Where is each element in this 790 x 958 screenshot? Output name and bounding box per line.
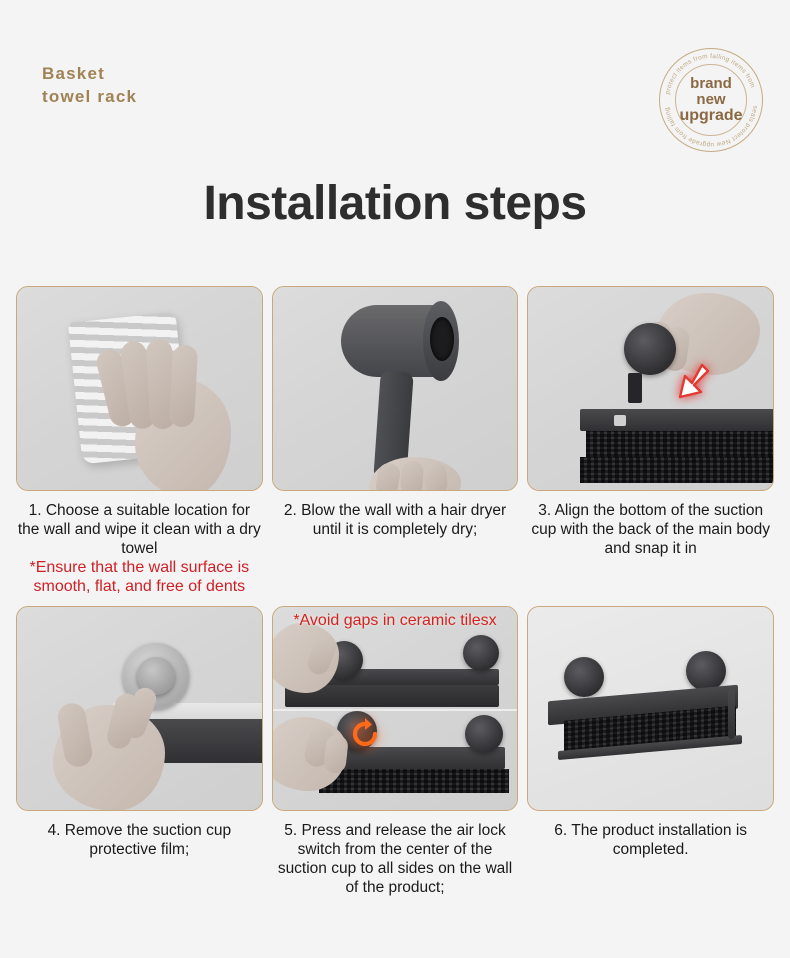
rack-lower-mesh (319, 769, 509, 793)
rack-mesh-upper (586, 431, 774, 457)
seal-center-text: brand new upgrade (659, 48, 763, 152)
brand-title: Basket towel rack (42, 62, 137, 108)
brand-title-line2: towel rack (42, 85, 137, 108)
rack-lock-marker (614, 415, 626, 426)
step-photo-4 (16, 606, 263, 811)
rack-mesh-lower (580, 457, 774, 483)
step-caption-3: 3. Align the bottom of the suction cup w… (527, 491, 774, 558)
rotate-arrow-icon (348, 717, 382, 751)
suction-cup-tab (628, 373, 642, 403)
suction-cup-lower-right (465, 715, 503, 753)
step-caption-1: 1. Choose a suitable location for the wa… (16, 491, 263, 558)
step-photo-1 (16, 286, 263, 491)
page-title: Installation steps (0, 176, 790, 231)
rack-top-rail (580, 409, 774, 431)
step-caption-5: 5. Press and release the air lock switch… (272, 811, 519, 897)
red-down-arrow-icon (668, 359, 712, 403)
step-cell-1: 1. Choose a suitable location for the wa… (16, 286, 263, 596)
hair-dryer-air-outlet (430, 317, 454, 361)
step-photo-3 (527, 286, 774, 491)
suction-cup-upper-right (463, 635, 499, 671)
step-cell-5: *Avoid gaps in ceramic tilesx 5. Press a… (272, 606, 519, 897)
step-cell-2: 2. Blow the wall with a hair dryer until… (272, 286, 519, 596)
finger-2c (424, 462, 448, 491)
step-photo-2 (272, 286, 519, 491)
seal-word-brand: brand (690, 76, 732, 92)
seal-word-upgrade: upgrade (679, 108, 742, 124)
step-cell-6: 6. The product installation is completed… (527, 606, 774, 897)
step-warning-1: *Ensure that the wall surface is smooth,… (16, 558, 263, 596)
rack-side-handle (728, 689, 735, 740)
step-caption-6: 6. The product installation is completed… (527, 811, 774, 859)
step-photo-6 (527, 606, 774, 811)
finger-1d (169, 344, 198, 427)
sub-photo-divider (273, 709, 518, 711)
step-caption-4: 4. Remove the suction cup protective fil… (16, 811, 263, 859)
brand-new-upgrade-seal-badge: protect items from falling items from se… (659, 48, 763, 152)
step-cell-3: 3. Align the bottom of the suction cup w… (527, 286, 774, 596)
installation-steps-grid: 1. Choose a suitable location for the wa… (16, 286, 774, 897)
step-overlay-warning-5: *Avoid gaps in ceramic tilesx (273, 611, 518, 630)
seal-word-new: new (696, 92, 725, 108)
step-caption-2: 2. Blow the wall with a hair dryer until… (272, 491, 519, 539)
brand-title-line1: Basket (42, 64, 105, 83)
step-photo-5: *Avoid gaps in ceramic tilesx (272, 606, 519, 811)
step-cell-4: 4. Remove the suction cup protective fil… (16, 606, 263, 897)
finger-2b (399, 460, 423, 491)
